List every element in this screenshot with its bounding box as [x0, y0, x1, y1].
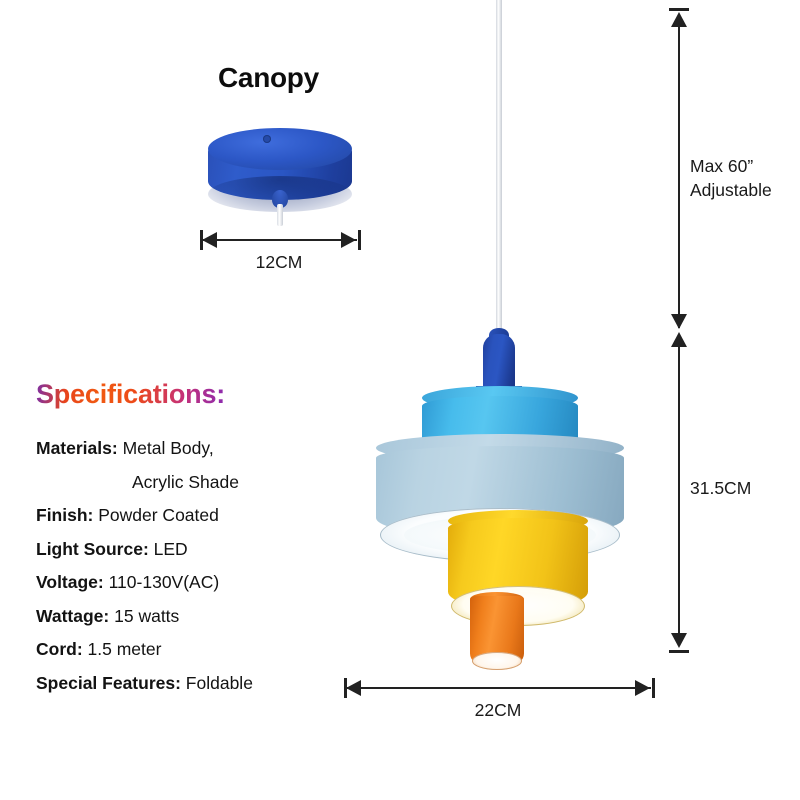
dim-tick-top	[669, 8, 689, 11]
spec-row-materials-continued: Acrylic Shade	[36, 466, 356, 500]
shade-width-dimension: 22CM	[344, 678, 656, 726]
spec-value-continued: Acrylic Shade	[132, 472, 239, 492]
arrow-right-icon	[635, 680, 650, 696]
arrow-down-icon	[671, 633, 687, 648]
arrow-up-icon	[671, 12, 687, 27]
spec-row-finish: Finish: Powder Coated	[36, 499, 356, 533]
spec-row-cord: Cord: 1.5 meter	[36, 633, 356, 667]
adjustable-height-dimension: Max 60” Adjustable	[672, 8, 792, 334]
canopy-title: Canopy	[218, 62, 319, 94]
spec-value: Foldable	[186, 673, 253, 693]
dim-tick-bottom	[669, 650, 689, 653]
spec-key: Finish:	[36, 505, 93, 525]
arrow-left-icon	[202, 232, 217, 248]
cord-icon	[277, 204, 283, 226]
dim-line	[678, 14, 680, 328]
spec-value: 110-130V(AC)	[109, 572, 220, 592]
spec-row-special-features: Special Features: Foldable	[36, 667, 356, 701]
spec-key: Special Features:	[36, 673, 181, 693]
spec-value: 1.5 meter	[88, 639, 162, 659]
spec-key: Voltage:	[36, 572, 104, 592]
dim-line	[678, 334, 680, 646]
spec-row-wattage: Wattage: 15 watts	[36, 600, 356, 634]
spec-value: LED	[154, 539, 188, 559]
dim-line	[347, 687, 651, 689]
lamp-cord-icon	[496, 0, 502, 336]
spec-key: Wattage:	[36, 606, 109, 626]
shade-height-label: 31.5CM	[690, 476, 800, 500]
adjustable-height-label: Max 60” Adjustable	[690, 154, 800, 202]
shade-height-dimension: 31.5CM	[672, 326, 792, 656]
dim-tick-right	[652, 678, 655, 698]
spec-key: Materials:	[36, 438, 118, 458]
pendant-lamp-illustration	[330, 0, 670, 690]
arrow-left-icon	[346, 680, 361, 696]
spec-value: 15 watts	[114, 606, 179, 626]
spec-key: Cord:	[36, 639, 83, 659]
specifications-list: Materials: Metal Body, Acrylic Shade Fin…	[36, 432, 356, 700]
spec-value: Metal Body,	[123, 438, 214, 458]
diffuser-orange-rim	[472, 652, 522, 670]
spec-row-voltage: Voltage: 110-130V(AC)	[36, 566, 356, 600]
spec-value: Powder Coated	[98, 505, 219, 525]
spec-row-materials: Materials: Metal Body,	[36, 432, 356, 466]
screw-icon	[263, 135, 271, 143]
specifications-title: Specifications:	[36, 379, 225, 410]
spec-row-light-source: Light Source: LED	[36, 533, 356, 567]
spec-key: Light Source:	[36, 539, 149, 559]
shade-width-label: 22CM	[344, 698, 652, 722]
arrow-up-icon	[671, 332, 687, 347]
